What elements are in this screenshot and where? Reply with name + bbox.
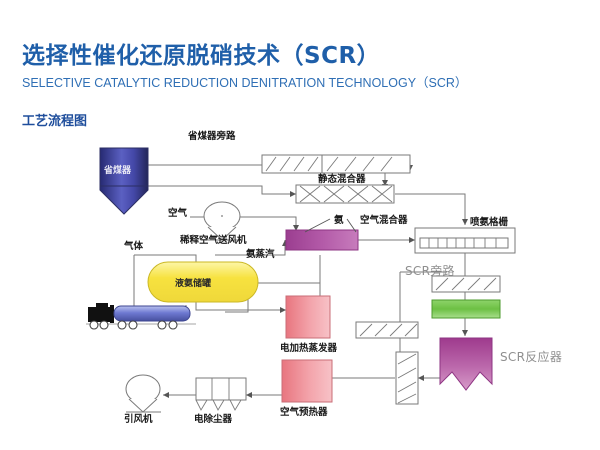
label-air-mixer: 空气混合器 xyxy=(360,212,408,226)
label-air-preheater: 空气预热器 xyxy=(280,404,328,418)
label-liquid-ammonia-tank: 液氨储罐 xyxy=(175,276,211,289)
label-ammonia-injection-grid: 喷氨格栅 xyxy=(470,214,508,228)
equipment-electrostatic-precipitator xyxy=(196,378,246,410)
equipment-outlet-damper xyxy=(396,352,418,404)
label-scr-reactor: SCR反应器 xyxy=(500,348,562,365)
label-gas: 气体 xyxy=(124,238,143,252)
label-economizer-bypass: 省煤器旁路 xyxy=(188,128,236,142)
pipe-economizer-to-static-mixer xyxy=(148,186,296,194)
equipment-air-preheater xyxy=(282,360,332,402)
equipment-ammonia-tanker-truck xyxy=(86,303,196,329)
label-electric-heater-vaporizer: 电加热蒸发器 xyxy=(280,340,337,354)
pipe-gas-to-tank xyxy=(134,255,196,262)
process-flow-diagram xyxy=(0,0,600,450)
slide-canvas: 选择性催化还原脱硝技术（SCR） SELECTIVE CATALYTIC RED… xyxy=(0,0,600,450)
label-ammonia: 氨 xyxy=(334,212,344,226)
equipment-scr-reactor xyxy=(440,338,492,390)
label-economizer: 省煤器 xyxy=(104,163,131,176)
label-ammonia-vapor: 氨蒸汽 xyxy=(246,246,275,260)
pipe-tank-to-heater xyxy=(248,283,320,296)
label-induced-draft-fan: 引风机 xyxy=(124,411,153,425)
label-static-mixer: 静态混合器 xyxy=(318,171,366,185)
equipment-static-mixer xyxy=(296,185,394,203)
pipe-fan-outlet xyxy=(240,217,296,225)
label-scr-bypass: SCR旁路 xyxy=(405,262,455,279)
equipment-ammonia-injection-grid xyxy=(415,228,515,253)
label-air: 空气 xyxy=(168,205,187,219)
label-dilution-air-fan: 稀释空气送风机 xyxy=(180,232,247,246)
equipment-induced-draft-fan xyxy=(126,375,161,412)
equipment-catalyst-layer xyxy=(432,300,500,318)
label-electrostatic-precipitator: 电除尘器 xyxy=(194,411,232,425)
equipment-economizer xyxy=(100,148,148,214)
equipment-ammonia-air-mixer xyxy=(286,219,358,250)
equipment-bypass-damper-lower xyxy=(356,322,418,338)
equipment-electric-heater-vaporizer xyxy=(286,296,330,338)
